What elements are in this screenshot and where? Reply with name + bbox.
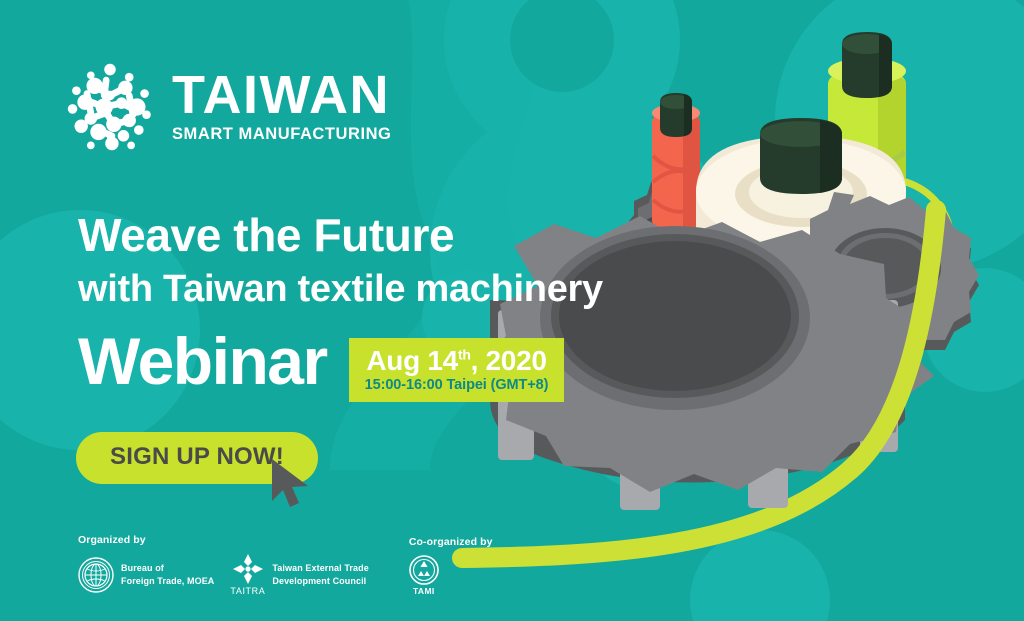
- brand-logo: TAIWAN SMART MANUFACTURING: [62, 58, 391, 156]
- sign-up-now-button[interactable]: SIGN UP NOW!: [76, 432, 318, 484]
- headline-block: Weave the Future with Taiwan textile mac…: [78, 212, 603, 308]
- globe-emblem-icon: [78, 557, 114, 593]
- logo-subtitle: SMART MANUFACTURING: [172, 125, 391, 144]
- date-suffix: , 2020: [471, 345, 547, 376]
- tami-wordmark: TAMI: [413, 586, 435, 596]
- co-organized-by-caption: Co-organized by: [409, 536, 493, 548]
- organizer-taitra-line2: Development Council: [272, 576, 366, 586]
- organizer-bureau-of-foreign-trade: Bureau ofForeign Trade, MOEA: [78, 557, 214, 593]
- organizer-taitra: TAITRA Taiwan External TradeDevelopment …: [230, 553, 368, 596]
- co-organizer-tami: TAMI: [409, 555, 439, 596]
- organizer-bureau-label: Bureau ofForeign Trade, MOEA: [121, 562, 214, 586]
- headline-line-1: Weave the Future: [78, 212, 603, 258]
- organizer-bureau-line2: Foreign Trade, MOEA: [121, 576, 214, 586]
- organized-by-caption: Organized by: [78, 534, 369, 546]
- co-organized-by-group: Co-organized by TAMI: [409, 536, 493, 596]
- headline-line-2: with Taiwan textile machinery: [78, 270, 603, 308]
- date-text: Aug 14th, 2020: [366, 346, 546, 375]
- date-prefix: Aug 14: [366, 345, 458, 376]
- taiwan-network-nodes-icon: [62, 58, 158, 156]
- date-time-text: 15:00-16:00 Taipei (GMT+8): [365, 377, 549, 393]
- cta-wrapper: SIGN UP NOW!: [76, 432, 318, 484]
- organizer-taitra-label: Taiwan External TradeDevelopment Council: [272, 562, 368, 586]
- logo-title: TAIWAN: [172, 70, 391, 121]
- tami-circle-emblem-icon: [409, 555, 439, 585]
- webinar-title: Webinar: [78, 328, 327, 394]
- webinar-banner: TAIWAN SMART MANUFACTURING Weave the Fut…: [0, 0, 1024, 621]
- footer-logos: Organized by Bureau ofForeign Trade, MOE…: [78, 534, 493, 596]
- date-badge: Aug 14th, 2020 15:00-16:00 Taipei (GMT+8…: [349, 338, 565, 402]
- organizer-bureau-line1: Bureau of: [121, 563, 164, 573]
- webinar-row: Webinar Aug 14th, 2020 15:00-16:00 Taipe…: [78, 328, 564, 402]
- taitra-diamond-icon: [232, 553, 264, 585]
- organizer-taitra-line1: Taiwan External Trade: [272, 563, 368, 573]
- taitra-wordmark: TAITRA: [230, 586, 265, 596]
- organized-by-group: Organized by Bureau ofForeign Trade, MOE…: [78, 534, 369, 596]
- date-ordinal: th: [458, 347, 471, 363]
